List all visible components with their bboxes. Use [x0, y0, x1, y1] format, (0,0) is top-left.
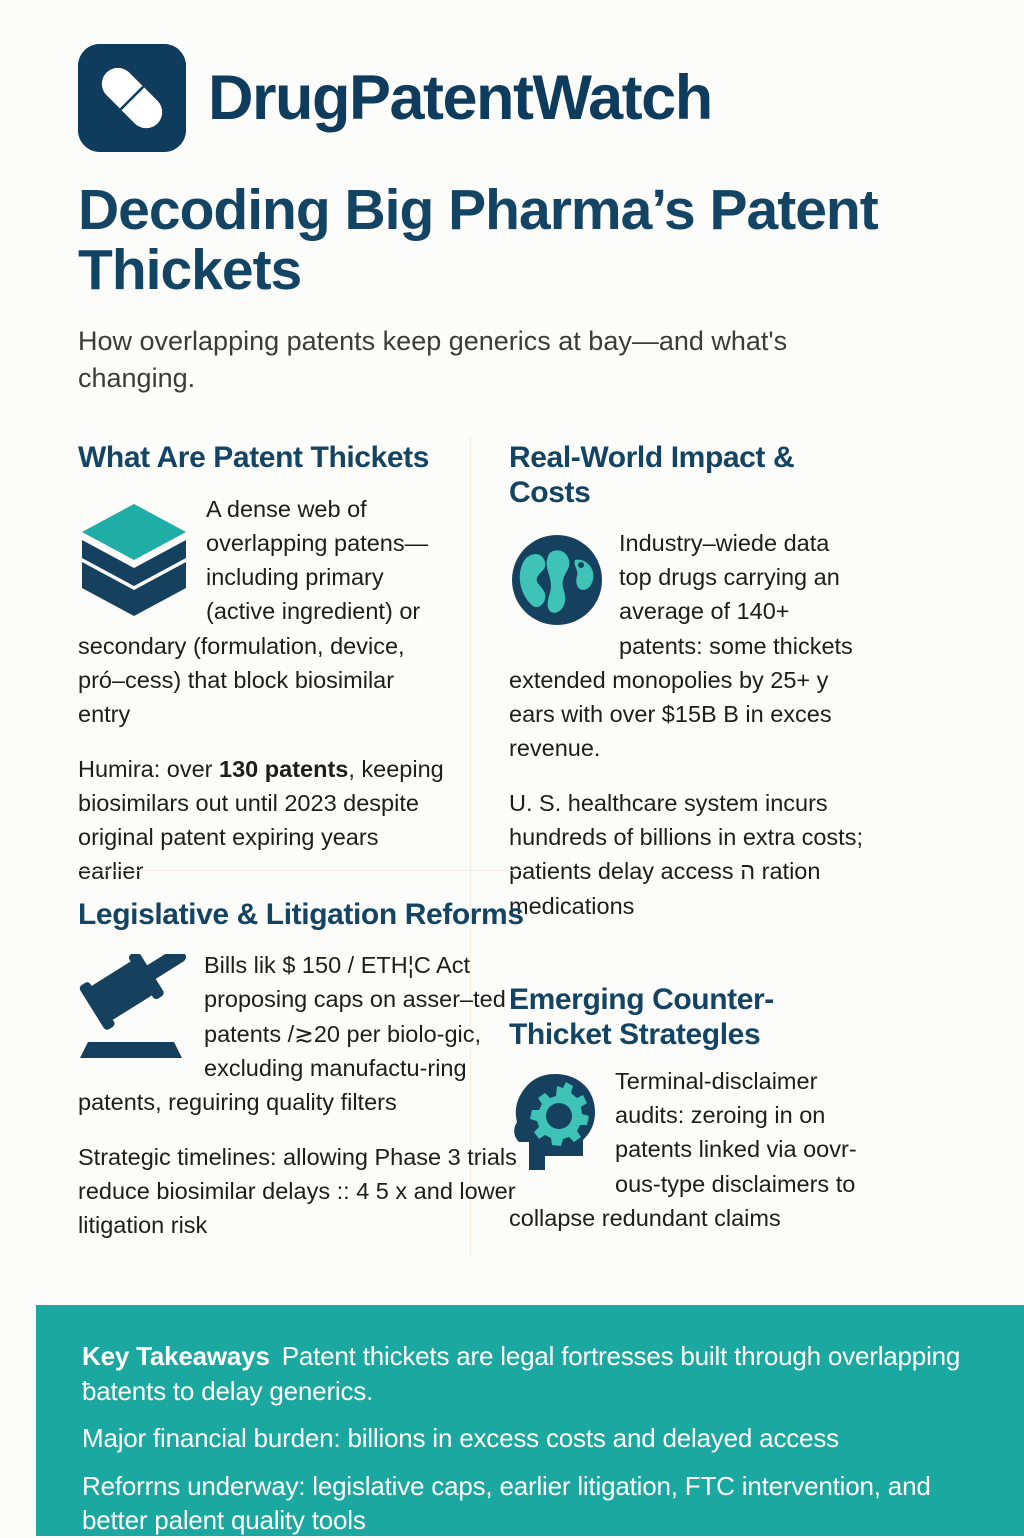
- globe-icon: [509, 532, 605, 633]
- page-subtitle: How overlapping patents keep generics at…: [78, 323, 898, 398]
- brand-header: DrugPatentWatch: [0, 0, 1024, 152]
- section-paragraph: U. S. healthcare system incurs hundreds …: [509, 786, 866, 923]
- section-heading: Emerging Counter-Thicket Strategles: [509, 983, 866, 1051]
- key-takeaway-line-1: Key TakeawaysPatent thickets are legal f…: [82, 1339, 978, 1408]
- infographic-page: DrugPatentWatch Decoding Big Pharma’s Pa…: [0, 0, 1024, 1536]
- key-takeaway-line-3: Reforrns underway: legislative caps, ear…: [82, 1469, 978, 1538]
- section-real-world-impact: Real-World Impact & Costs Industry–wiede…: [509, 437, 866, 961]
- row-divider: [78, 870, 530, 871]
- brand-wordmark: DrugPatentWatch: [208, 67, 712, 130]
- key-takeaways-label: Key Takeaways: [82, 1341, 270, 1371]
- layers-stack-icon: [78, 498, 190, 621]
- section-heading: What Are Patent Thickets: [78, 441, 444, 475]
- section-heading: Legislative & Litigation Reforms: [78, 898, 530, 932]
- page-title: Decoding Big Pharma’s Patent Thickets: [78, 180, 898, 301]
- section-legislative-litigation: Legislative & Litigation Reforms Bills l…: [78, 898, 530, 1263]
- right-column: Real-World Impact & Costs Industry–wiede…: [471, 437, 914, 1255]
- section-paragraph: Strategic timelines: allowing Phase 3 tr…: [78, 1140, 530, 1243]
- section-heading: Real-World Impact & Costs: [509, 441, 866, 509]
- section-paragraph-humira: Humira: over 130 patents, keeping biosim…: [78, 752, 444, 889]
- key-takeaways-panel: Key TakeawaysPatent thickets are legal f…: [36, 1305, 1024, 1536]
- gavel-icon: [78, 954, 188, 1067]
- key-takeaway-line-2: Major financial burden: billions in exce…: [82, 1421, 978, 1456]
- section-emerging-counter-thicket: Emerging Counter-Thicket Strategles Term…: [509, 961, 866, 1255]
- section-what-are-patent-thickets: What Are Patent Thickets A dense web of …: [78, 437, 444, 888]
- pill-capsule-icon: [78, 44, 186, 152]
